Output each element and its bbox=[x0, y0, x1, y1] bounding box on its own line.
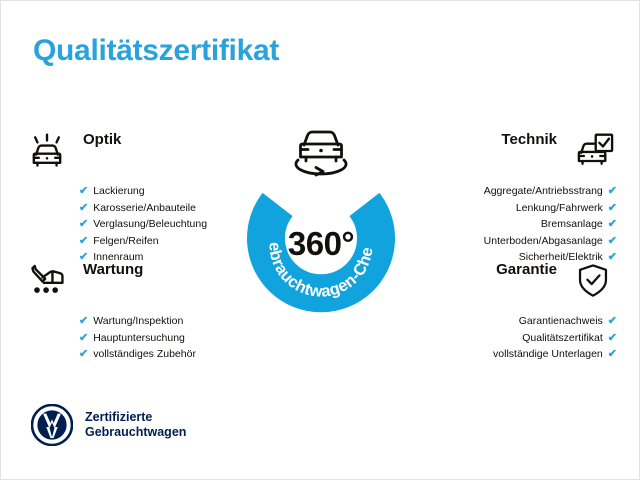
section-list-wartung: ✔Wartung/Inspektion ✔Hauptuntersuchung ✔… bbox=[23, 313, 255, 363]
section-garantie: Garantie Garantienachweis✔ Qualitätszert… bbox=[385, 259, 617, 363]
section-title-wartung: Wartung bbox=[83, 261, 143, 278]
check-icon: ✔ bbox=[79, 233, 88, 250]
list-item-label: Karosserie/Anbauteile bbox=[93, 200, 196, 217]
wrench-car-icon bbox=[23, 259, 71, 303]
check-icon: ✔ bbox=[79, 216, 88, 233]
list-item-label: Hauptuntersuchung bbox=[93, 330, 185, 347]
list-item: Garantienachweis✔ bbox=[385, 313, 617, 330]
vw-lockup: Zertifizierte Gebrauchtwagen bbox=[31, 404, 186, 446]
section-title-block-optik: Optik bbox=[71, 129, 255, 151]
list-item: ✔Lackierung bbox=[23, 183, 255, 200]
list-item: Aggregate/Antriebsstrang✔ bbox=[385, 183, 617, 200]
check-icon: ✔ bbox=[608, 183, 617, 200]
list-item-label: Lenkung/Fahrwerk bbox=[516, 200, 603, 217]
check-icon: ✔ bbox=[79, 200, 88, 217]
section-list-technik: Aggregate/Antriebsstrang✔ Lenkung/Fahrwe… bbox=[385, 183, 617, 266]
check-icon: ✔ bbox=[608, 200, 617, 217]
list-item-label: Unterboden/Abgasanlage bbox=[484, 233, 603, 250]
badge-center-label: 360° bbox=[232, 225, 410, 263]
shield-check-icon bbox=[569, 259, 617, 303]
list-item-label: Verglasung/Beleuchtung bbox=[93, 216, 207, 233]
list-item: Bremsanlage✔ bbox=[385, 216, 617, 233]
qualitaetszertifikat-page: Qualitätszertifikat Optik bbox=[0, 0, 640, 480]
badge-360-gebrauchtwagen-check: Gebrauchtwagen-Check 360° bbox=[232, 123, 410, 315]
section-header-garantie: Garantie bbox=[385, 259, 617, 305]
list-item-label: Garantienachweis bbox=[519, 313, 603, 330]
check-icon: ✔ bbox=[608, 346, 617, 363]
section-optik: Optik ✔Lackierung ✔Karosserie/Anbauteile… bbox=[23, 129, 255, 266]
check-icon: ✔ bbox=[608, 233, 617, 250]
list-item: Lenkung/Fahrwerk✔ bbox=[385, 200, 617, 217]
list-item: Unterboden/Abgasanlage✔ bbox=[385, 233, 617, 250]
section-list-optik: ✔Lackierung ✔Karosserie/Anbauteile ✔Verg… bbox=[23, 183, 255, 266]
list-item: ✔Felgen/Reifen bbox=[23, 233, 255, 250]
vw-lockup-text: Zertifizierte Gebrauchtwagen bbox=[85, 410, 186, 440]
list-item: ✔Karosserie/Anbauteile bbox=[23, 200, 255, 217]
vw-logo bbox=[31, 404, 73, 446]
check-icon: ✔ bbox=[608, 330, 617, 347]
list-item-label: Bremsanlage bbox=[541, 216, 603, 233]
list-item-label: Wartung/Inspektion bbox=[93, 313, 183, 330]
list-item-label: Felgen/Reifen bbox=[93, 233, 158, 250]
page-title: Qualitätszertifikat bbox=[33, 34, 279, 68]
section-header-wartung: Wartung bbox=[23, 259, 255, 305]
list-item: ✔Verglasung/Beleuchtung bbox=[23, 216, 255, 233]
list-item: ✔vollständiges Zubehör bbox=[23, 346, 255, 363]
section-technik: Technik Aggregate/Antriebsstrang✔ Lenkun… bbox=[385, 129, 617, 266]
section-title-block-technik: Technik bbox=[385, 129, 569, 151]
section-title-block-garantie: Garantie bbox=[385, 259, 569, 281]
section-list-garantie: Garantienachweis✔ Qualitätszertifikat✔ v… bbox=[385, 313, 617, 363]
check-icon: ✔ bbox=[608, 216, 617, 233]
list-item-label: Aggregate/Antriebsstrang bbox=[484, 183, 603, 200]
check-icon: ✔ bbox=[79, 313, 88, 330]
list-item-label: vollständiges Zubehör bbox=[93, 346, 196, 363]
car-shine-icon bbox=[23, 129, 71, 173]
list-item: vollständige Unterlagen✔ bbox=[385, 346, 617, 363]
section-header-technik: Technik bbox=[385, 129, 617, 175]
list-item-label: vollständige Unterlagen bbox=[493, 346, 603, 363]
section-header-optik: Optik bbox=[23, 129, 255, 175]
car-checkbox-icon bbox=[569, 129, 617, 173]
check-icon: ✔ bbox=[79, 346, 88, 363]
list-item-label: Lackierung bbox=[93, 183, 144, 200]
vw-lockup-line2: Gebrauchtwagen bbox=[85, 425, 186, 439]
check-icon: ✔ bbox=[608, 313, 617, 330]
vw-lockup-line1: Zertifizierte bbox=[85, 410, 152, 424]
section-title-garantie: Garantie bbox=[496, 261, 557, 278]
check-icon: ✔ bbox=[79, 330, 88, 347]
check-icon: ✔ bbox=[79, 183, 88, 200]
section-title-optik: Optik bbox=[83, 131, 121, 148]
list-item-label: Qualitätszertifikat bbox=[522, 330, 603, 347]
section-title-block-wartung: Wartung bbox=[71, 259, 255, 281]
list-item: ✔Wartung/Inspektion bbox=[23, 313, 255, 330]
list-item: ✔Hauptuntersuchung bbox=[23, 330, 255, 347]
section-wartung: Wartung ✔Wartung/Inspektion ✔Hauptunters… bbox=[23, 259, 255, 363]
section-title-technik: Technik bbox=[501, 131, 557, 148]
list-item: Qualitätszertifikat✔ bbox=[385, 330, 617, 347]
